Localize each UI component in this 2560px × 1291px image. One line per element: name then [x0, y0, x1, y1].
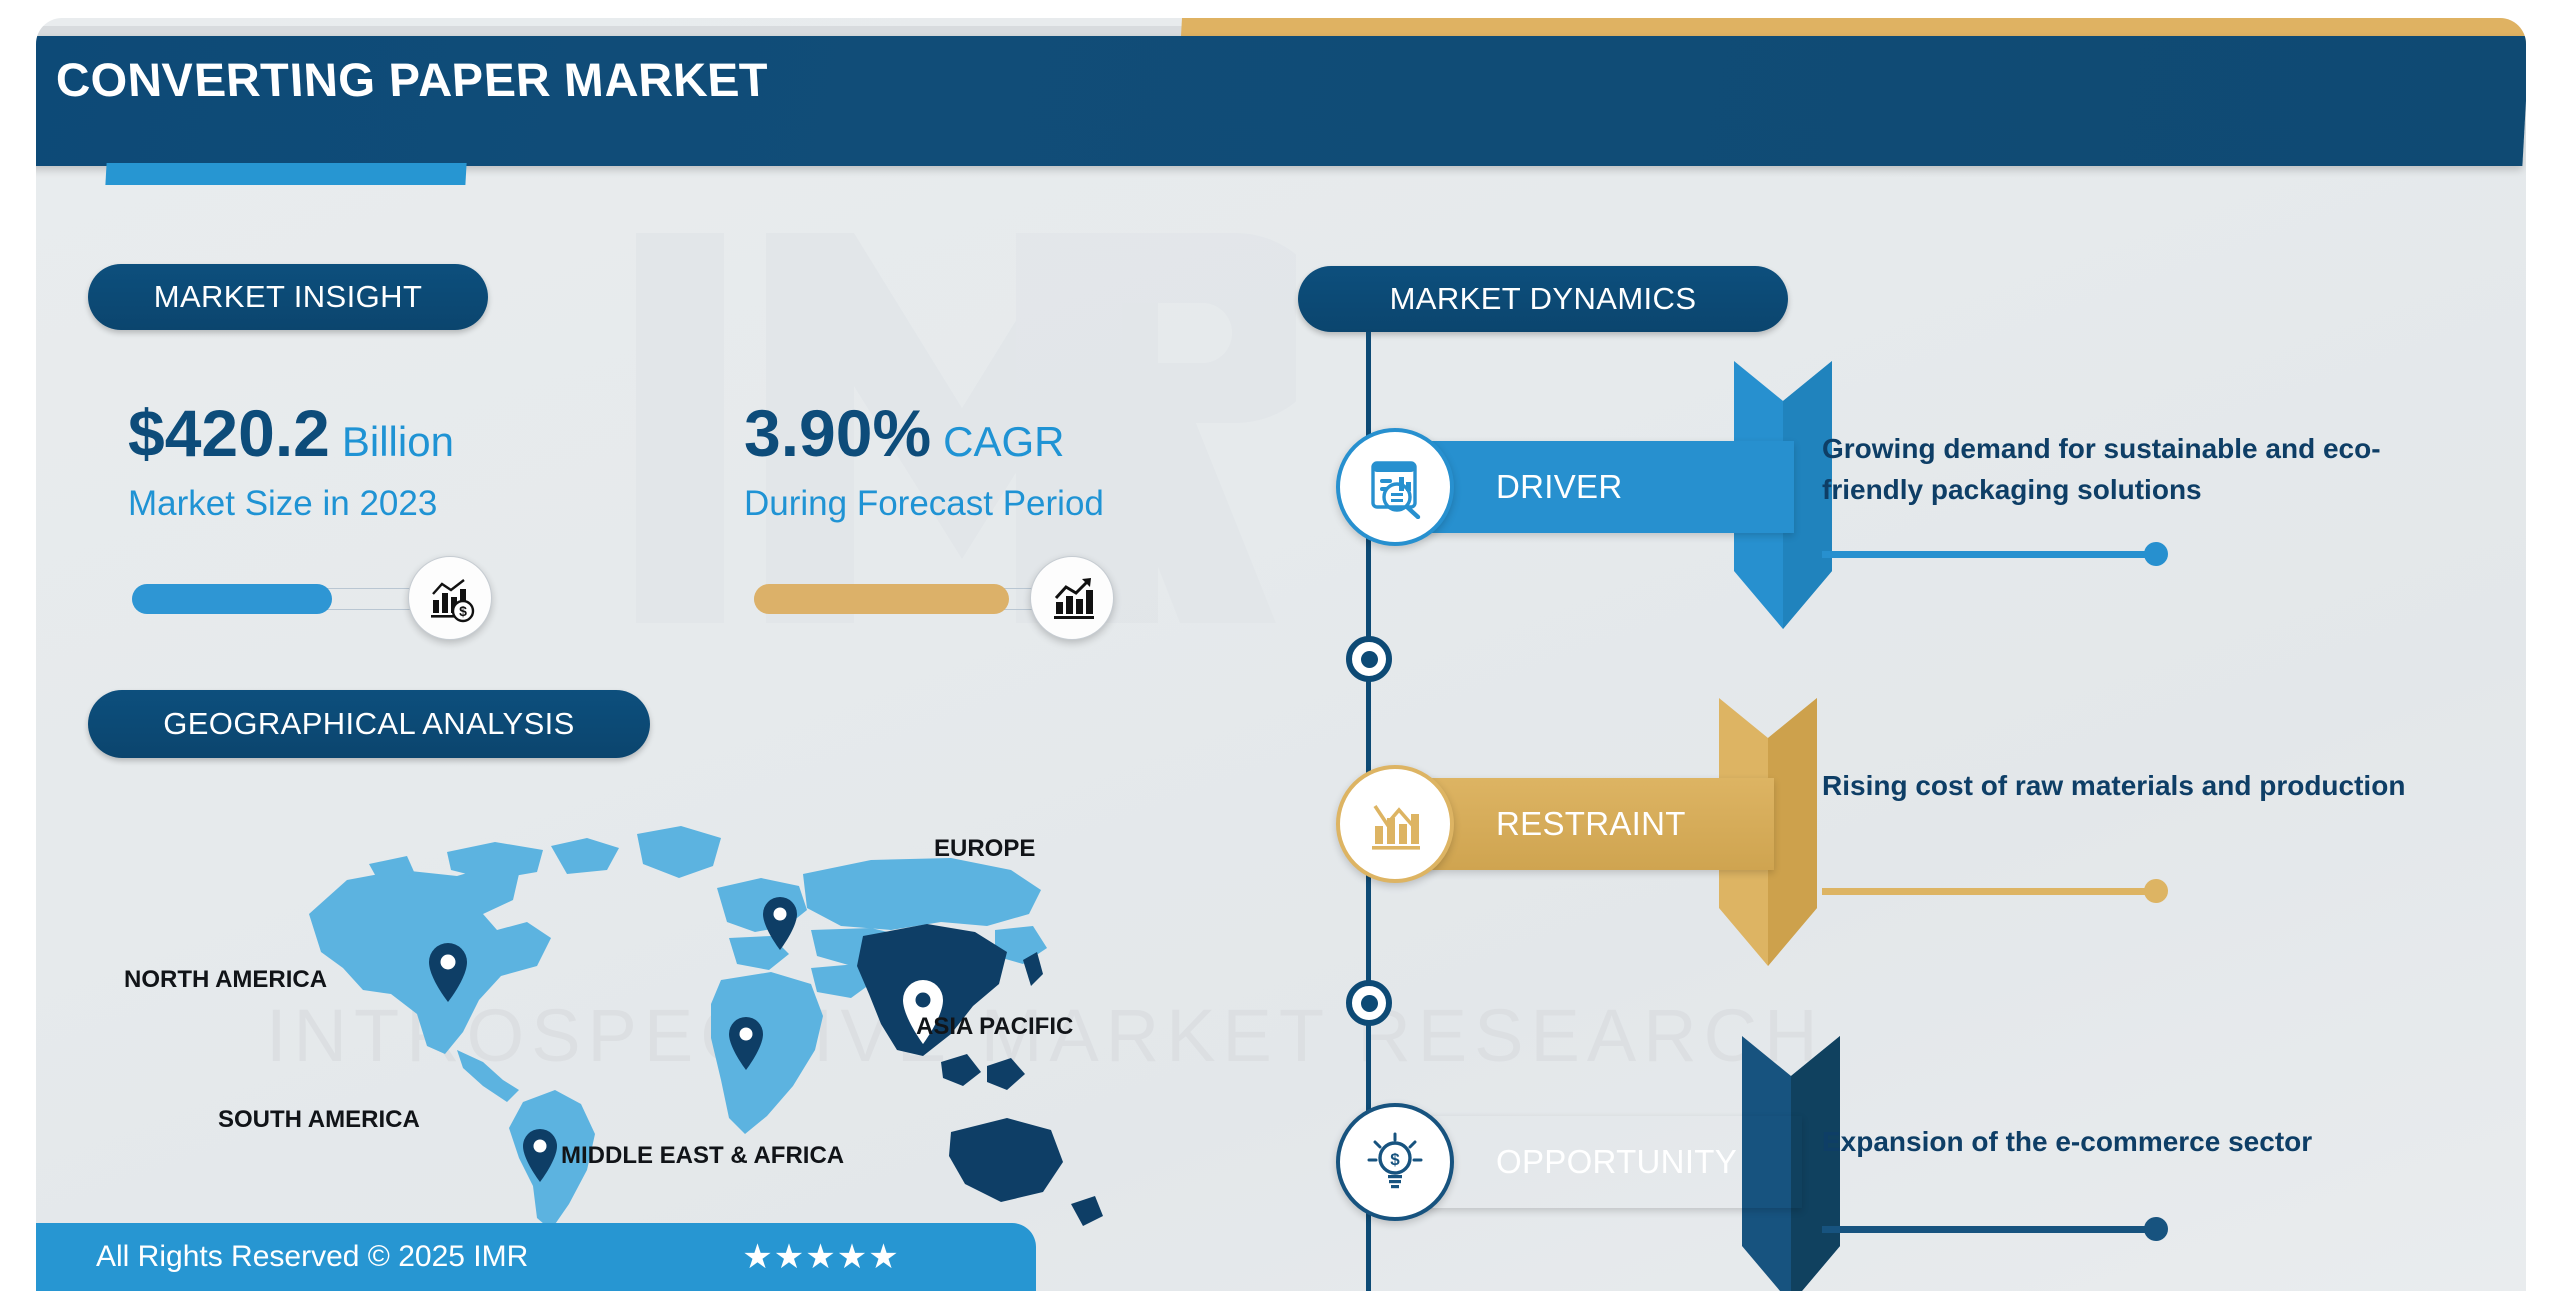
opportunity-text: Expansion of the e-commerce sector: [1822, 1121, 2462, 1162]
cagr-progress: [754, 584, 1074, 614]
header-blue-accent: [105, 163, 466, 185]
cagr-unit: CAGR: [943, 421, 1064, 463]
declining-bar-chart-icon: [1336, 765, 1454, 883]
map-label-north-america: NORTH AMERICA: [124, 966, 327, 994]
market-size-progress: $: [132, 584, 452, 614]
infographic-root: INTROSPECTIVE MARKET RESEARCH CONVERTING…: [0, 0, 2560, 1291]
driver-leader-dot: [2144, 542, 2168, 566]
spine-node-1: [1346, 636, 1392, 682]
progress-fill: [754, 584, 1009, 614]
driver-text: Growing demand for sustainable and eco-f…: [1822, 428, 2462, 510]
map-label-europe: EUROPE: [934, 835, 1035, 863]
lightbulb-dollar-icon: $: [1336, 1103, 1454, 1221]
market-size-value: $420.2: [128, 400, 330, 466]
map-label-south-america: SOUTH AMERICA: [218, 1106, 420, 1134]
infographic-canvas: INTROSPECTIVE MARKET RESEARCH CONVERTING…: [36, 18, 2526, 1291]
market-size-unit: Billion: [342, 421, 454, 463]
stat-cagr: 3.90%CAGR During Forecast Period: [744, 400, 1104, 524]
svg-text:$: $: [1390, 1150, 1400, 1169]
stat-market-size: $420.2Billion Market Size in 2023: [128, 400, 454, 524]
market-size-caption: Market Size in 2023: [128, 484, 454, 524]
driver-leader-line: [1822, 551, 2162, 558]
opportunity-leader-line: [1822, 1226, 2162, 1233]
market-dynamics-heading: MARKET DYNAMICS: [1298, 266, 1788, 332]
spine-node-2: [1346, 980, 1392, 1026]
restraint-leader-line: [1822, 888, 2162, 895]
opportunity-leader-dot: [2144, 1217, 2168, 1241]
footer-bar: All Rights Reserved © 2025 IMR ★★★★★: [36, 1223, 1036, 1291]
copyright-text: All Rights Reserved © 2025 IMR: [96, 1240, 528, 1274]
restraint-leader-dot: [2144, 879, 2168, 903]
growth-arrow-chart-icon: [1030, 556, 1114, 640]
restraint-text: Rising cost of raw materials and product…: [1822, 765, 2462, 806]
bar-chart-dollar-icon: $: [408, 556, 492, 640]
cagr-caption: During Forecast Period: [744, 484, 1104, 524]
svg-text:$: $: [459, 603, 467, 619]
page-title: CONVERTING PAPER MARKET: [54, 52, 2457, 107]
cagr-value: 3.90%: [744, 400, 931, 466]
progress-fill: [132, 584, 332, 614]
report-magnifier-icon: [1336, 428, 1454, 546]
map-label-asia-pacific: ASIA PACIFIC: [916, 1013, 1073, 1041]
market-insight-heading: MARKET INSIGHT: [88, 264, 488, 330]
geographical-analysis-heading: GEOGRAPHICAL ANALYSIS: [88, 690, 650, 758]
rating-stars: ★★★★★: [742, 1237, 899, 1277]
map-label-middle-east-africa: MIDDLE EAST & AFRICA: [561, 1142, 844, 1170]
